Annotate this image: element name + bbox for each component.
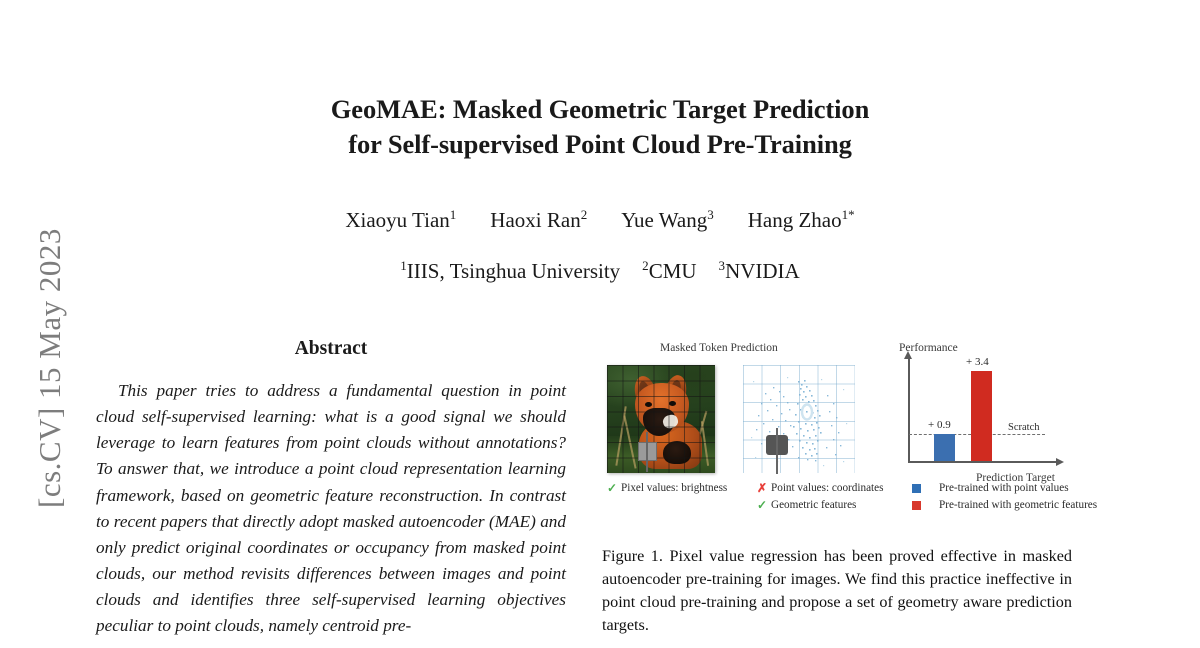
author-affil-ref: 3 <box>707 207 714 222</box>
author-name: Hang Zhao <box>748 208 842 232</box>
authors-row: Xiaoyu Tian1Haoxi Ran2Yue Wang3Hang Zhao… <box>180 207 1020 233</box>
abstract-heading: Abstract <box>96 338 566 360</box>
legend-group-chart: Pre-trained with point values Pre-traine… <box>912 482 1097 515</box>
check-icon: ✓ <box>607 482 621 495</box>
author-1: Xiaoyu Tian1 <box>345 208 456 232</box>
x-icon: ✗ <box>757 482 771 495</box>
affiliation-2: 2CMU <box>642 259 696 283</box>
performance-bar-chart: Scratch + 0.9 + 3.4 Prediction Target <box>890 354 1072 486</box>
legend-label: Pixel values: brightness <box>621 482 727 496</box>
figure-legends: ✓ Pixel values: brightness ✗ Point value… <box>602 482 1072 522</box>
arxiv-stamp: [cs.CV] 15 May 2023 <box>32 88 68 508</box>
point-cloud-panel <box>743 365 855 473</box>
author-affil-ref: 2 <box>581 207 588 222</box>
bar-value-point-values: + 0.9 <box>928 419 951 431</box>
bar-point-values <box>934 434 955 461</box>
title-line-2: for Self-supervised Point Cloud Pre-Trai… <box>180 127 1020 162</box>
bar-geometric-features <box>971 371 992 461</box>
author-3: Yue Wang3 <box>621 208 714 232</box>
bar-value-geometric-features: + 3.4 <box>966 356 989 368</box>
affiliation-name: IIIS, Tsinghua University <box>407 259 620 283</box>
blue-swatch-icon <box>912 484 921 493</box>
pointer-stem-pointcloud <box>776 428 778 474</box>
affiliation-1: 1IIIS, Tsinghua University <box>400 259 620 283</box>
author-2: Haoxi Ran2 <box>490 208 587 232</box>
red-swatch-icon <box>912 501 921 510</box>
figure-1-caption: Figure 1. Pixel value regression has bee… <box>602 545 1072 638</box>
legend-group-pointcloud: ✗ Point values: coordinates ✓ Geometric … <box>757 482 883 515</box>
legend-label: Geometric features <box>771 499 856 513</box>
figure-column: Masked Token Prediction Performance <box>602 338 1072 522</box>
x-axis-arrow-icon <box>1056 458 1064 466</box>
affiliations-row: 1IIIS, Tsinghua University2CMU3NVIDIA <box>180 258 1020 284</box>
author-name: Haoxi Ran <box>490 208 580 232</box>
author-name: Yue Wang <box>621 208 707 232</box>
affiliation-name: CMU <box>649 259 697 283</box>
masked-token-prediction-title: Masked Token Prediction <box>660 342 778 354</box>
legend-item: Pre-trained with point values <box>912 482 1097 496</box>
pointer-stem-image <box>646 432 648 472</box>
legend-item: ✓ Geometric features <box>757 499 883 513</box>
page-title: GeoMAE: Masked Geometric Target Predicti… <box>180 92 1020 162</box>
author-affil-ref: 1 <box>450 207 457 222</box>
abstract-column: Abstract This paper tries to address a f… <box>96 338 566 639</box>
point-cloud-points <box>743 365 855 473</box>
legend-label: Pre-trained with point values <box>939 482 1069 496</box>
fox-image-panel <box>607 365 715 473</box>
paper-page: [cs.CV] 15 May 2023 GeoMAE: Masked Geome… <box>0 0 1200 648</box>
title-block: GeoMAE: Masked Geometric Target Predicti… <box>180 92 1020 162</box>
title-line-1: GeoMAE: Masked Geometric Target Predicti… <box>180 92 1020 127</box>
abstract-text: This paper tries to address a fundamenta… <box>96 378 566 639</box>
y-axis-arrow-icon <box>904 351 912 359</box>
scratch-label: Scratch <box>1008 422 1040 433</box>
image-patch-grid-overlay <box>607 365 715 473</box>
figure-1-graphic: Masked Token Prediction Performance <box>602 338 1072 522</box>
legend-label: Point values: coordinates <box>771 482 883 496</box>
legend-item: ✓ Pixel values: brightness <box>607 482 727 496</box>
x-axis <box>908 461 1058 463</box>
affiliation-name: NVIDIA <box>725 259 800 283</box>
author-4: Hang Zhao1* <box>748 208 855 232</box>
legend-label: Pre-trained with geometric features <box>939 499 1097 513</box>
author-name: Xiaoyu Tian <box>345 208 449 232</box>
affiliation-3: 3NVIDIA <box>719 259 800 283</box>
y-axis <box>908 358 910 462</box>
check-icon: ✓ <box>757 499 771 512</box>
legend-item: ✗ Point values: coordinates <box>757 482 883 496</box>
corresponding-author-marker: * <box>848 207 855 222</box>
legend-item: Pre-trained with geometric features <box>912 499 1097 513</box>
legend-group-image: ✓ Pixel values: brightness <box>607 482 727 499</box>
